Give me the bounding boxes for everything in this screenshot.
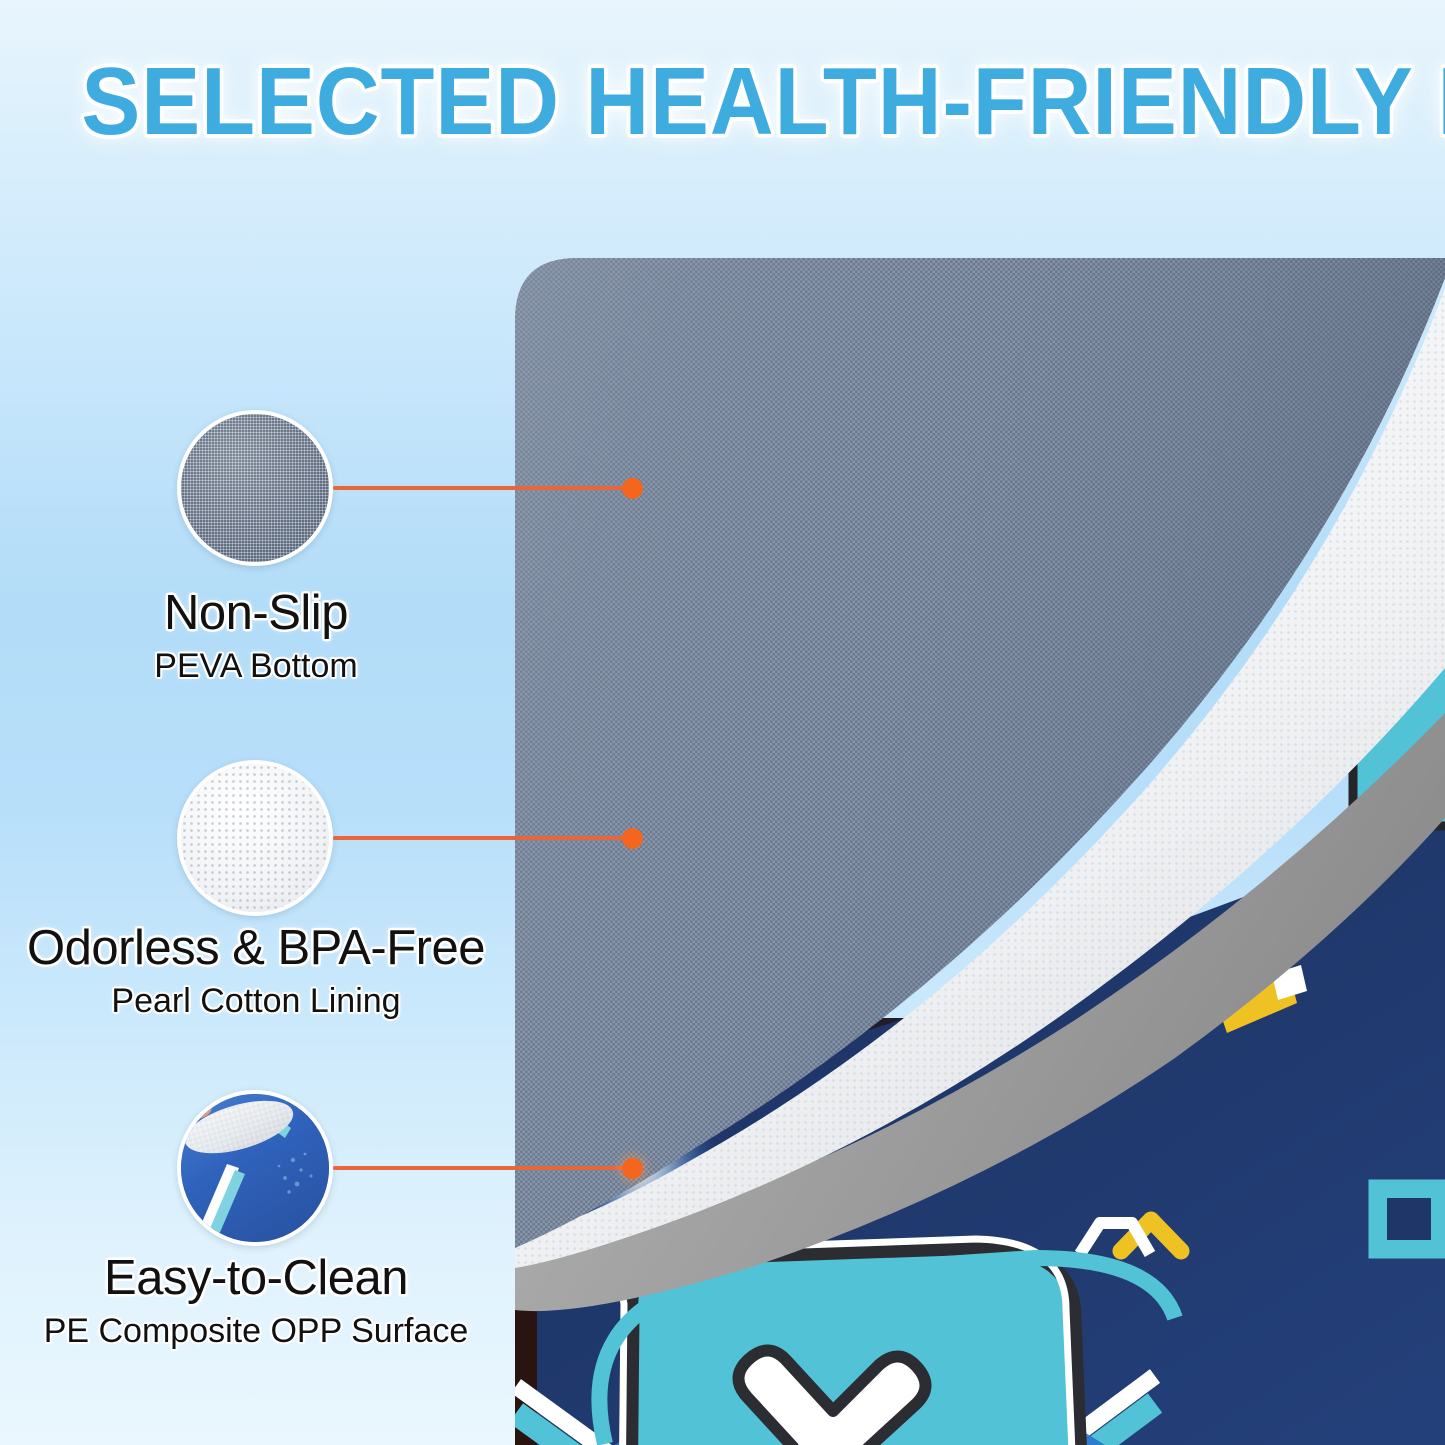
feature-label-easy-clean: Easy-to-Clean PE Composite OPP Surface (0, 1250, 512, 1351)
feature-label-non-slip: Non-Slip PEVA Bottom (0, 585, 512, 686)
connector-line-odorless (333, 836, 633, 840)
header: SELECTED HEALTH-FRIENDLY MATERIALS (0, 52, 1445, 153)
feature-subtitle: PEVA Bottom (0, 647, 512, 686)
infographic-root: SELECTED HEALTH-FRIENDLY MATERIALS (0, 0, 1445, 1445)
peva-texture-fill (181, 414, 329, 562)
feature-subtitle: Pearl Cotton Lining (0, 982, 512, 1021)
easy-clean-wipe-swatch (177, 1090, 333, 1246)
connector-dot-easy-clean (622, 1158, 643, 1179)
connector-dot-non-slip (622, 478, 643, 499)
connector-line-non-slip (333, 486, 633, 490)
pearl-cotton-lining-swatch (177, 760, 333, 916)
product-image (515, 258, 1445, 1445)
feature-title: Odorless & BPA-Free (0, 920, 512, 976)
feature-label-odorless: Odorless & BPA-Free Pearl Cotton Lining (0, 920, 512, 1021)
connector-line-easy-clean (333, 1166, 633, 1170)
connector-dot-odorless (622, 828, 643, 849)
teal-square-outline (1370, 1181, 1445, 1257)
easy-clean-photo-fill (181, 1094, 329, 1242)
peva-bottom-texture-swatch (177, 410, 333, 566)
feature-title: Easy-to-Clean (0, 1250, 512, 1306)
feature-title: Non-Slip (0, 585, 512, 641)
page-title: SELECTED HEALTH-FRIENDLY MATERIALS (81, 52, 1445, 153)
pearl-cotton-texture-fill (181, 764, 329, 912)
feature-subtitle: PE Composite OPP Surface (0, 1312, 512, 1351)
